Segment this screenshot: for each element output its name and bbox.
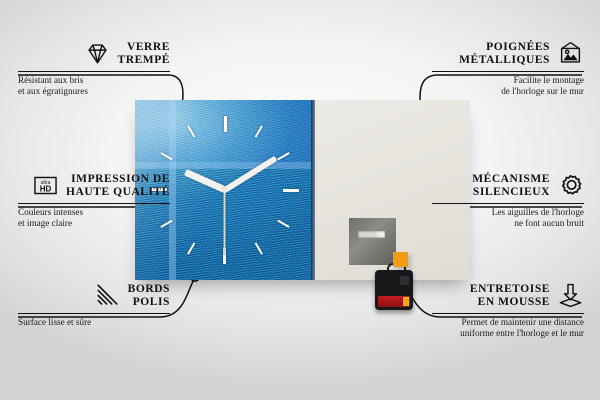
callout-rule bbox=[18, 313, 170, 314]
callout-mecanisme-silencieux: MÉCANISME SILENCIEUX Les aiguilles de l'… bbox=[432, 172, 584, 229]
product-photo bbox=[135, 100, 470, 280]
callout-poignees-metalliques: POIGNÉES MÉTALLIQUES Facilite le montage… bbox=[432, 40, 584, 97]
clock-pivot bbox=[222, 187, 228, 193]
callout-rule bbox=[18, 71, 170, 72]
callout-rule bbox=[432, 71, 584, 72]
clock-tick bbox=[225, 189, 299, 191]
callout-subtitle: Surface lisse et sûre bbox=[18, 317, 170, 328]
callout-rule bbox=[432, 203, 584, 204]
callout-title: BORDS POLIS bbox=[128, 283, 170, 309]
callout-bords-polis: BORDS POLIS Surface lisse et sûre bbox=[18, 282, 170, 328]
callout-entretoise-en-mousse: ENTRETOISE EN MOUSSE Permet de maintenir… bbox=[432, 282, 584, 339]
gear-icon bbox=[557, 172, 584, 199]
callout-header: VERRE TREMPÉ bbox=[18, 40, 170, 67]
picture-hanger-icon bbox=[557, 40, 584, 67]
callout-impression-haute-qualite: IMPRESSION DE HAUTE QUALITÉ ultra HD Cou… bbox=[18, 172, 170, 229]
battery bbox=[378, 296, 410, 307]
callout-header: ENTRETOISE EN MOUSSE bbox=[432, 282, 584, 309]
callout-subtitle: Facilite le montage de l'horloge sur le … bbox=[432, 75, 584, 97]
infographic-stage: VERRE TREMPÉ Résistant aux bris et aux é… bbox=[0, 0, 600, 400]
callout-subtitle: Les aiguilles de l'horloge ne font aucun… bbox=[432, 207, 584, 229]
polished-edge-icon bbox=[94, 282, 121, 309]
callout-title: POIGNÉES MÉTALLIQUES bbox=[459, 41, 550, 67]
svg-text:HD: HD bbox=[40, 184, 52, 193]
mechanism-dial bbox=[400, 276, 409, 285]
diamond-icon bbox=[84, 40, 111, 67]
arrow-down-pad-icon bbox=[557, 282, 584, 309]
callout-header: BORDS POLIS bbox=[18, 282, 170, 309]
hanger-slot bbox=[358, 231, 385, 238]
ultra-hd-icon: ultra HD bbox=[32, 172, 59, 199]
callout-header: IMPRESSION DE HAUTE QUALITÉ ultra HD bbox=[18, 172, 170, 199]
clock-mechanism bbox=[375, 270, 413, 310]
callout-title: IMPRESSION DE HAUTE QUALITÉ bbox=[66, 173, 170, 199]
callout-subtitle: Permet de maintenir une distance uniform… bbox=[432, 317, 584, 339]
callout-verre-trempe: VERRE TREMPÉ Résistant aux bris et aux é… bbox=[18, 40, 170, 97]
callout-title: ENTRETOISE EN MOUSSE bbox=[470, 283, 550, 309]
callout-subtitle: Résistant aux bris et aux égratignures bbox=[18, 75, 170, 97]
clock-tick bbox=[224, 116, 226, 190]
callout-subtitle: Couleurs intenses et image claire bbox=[18, 207, 170, 229]
callout-header: MÉCANISME SILENCIEUX bbox=[432, 172, 584, 199]
callout-header: POIGNÉES MÉTALLIQUES bbox=[432, 40, 584, 67]
callout-title: MÉCANISME SILENCIEUX bbox=[472, 173, 550, 199]
callout-title: VERRE TREMPÉ bbox=[118, 41, 171, 67]
foam-spacer bbox=[393, 252, 408, 267]
callout-rule bbox=[432, 313, 584, 314]
metal-hanger-plate bbox=[349, 218, 396, 265]
callout-rule bbox=[18, 203, 170, 204]
